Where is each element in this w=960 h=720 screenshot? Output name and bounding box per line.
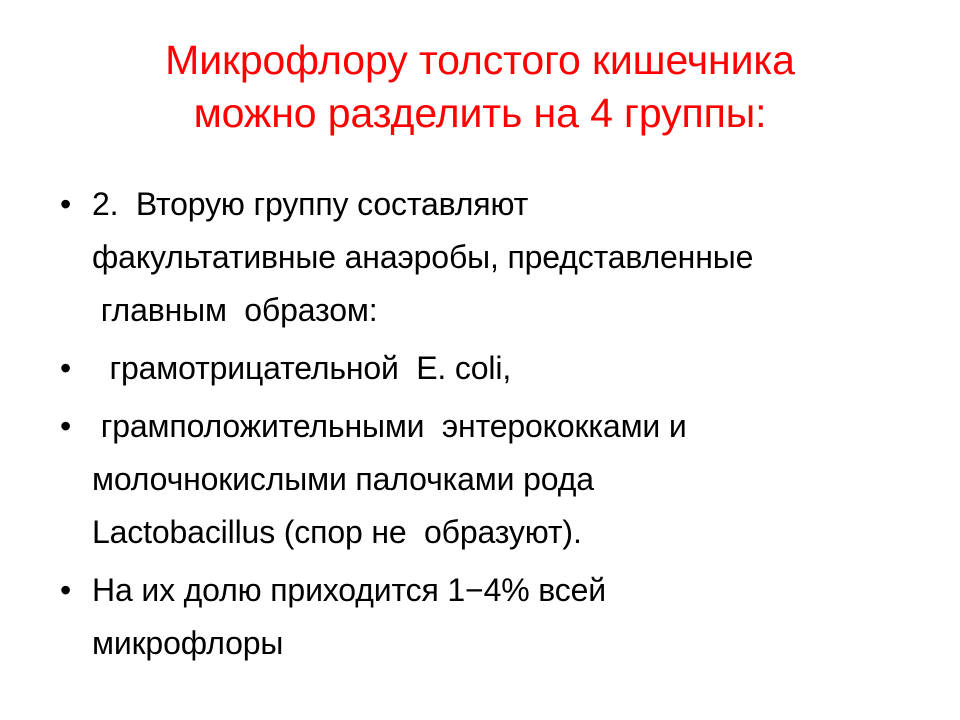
paragraph-1-text: 2. Вторую группу составляют факультативн… xyxy=(92,178,946,337)
bullet-paragraph-2: • грамотрицательной E. coli, xyxy=(46,342,946,395)
bullet-point-icon: • xyxy=(60,400,78,453)
text-line: На их долю приходится 1−4% всей xyxy=(92,564,946,617)
bullet-paragraph-3: • грамположительными энтерококками и мол… xyxy=(46,400,946,559)
slide-title: Микрофлору толстого кишечника можно разд… xyxy=(30,34,930,140)
bullet-point-icon: • xyxy=(60,178,78,231)
bullet-paragraph-1: • 2. Вторую группу составляют факультати… xyxy=(46,178,946,337)
text-line: 2. Вторую группу составляют xyxy=(92,178,946,231)
text-line: Lactobacillus (спор не образуют). xyxy=(92,506,946,559)
presentation-slide: Микрофлору толстого кишечника можно разд… xyxy=(0,0,960,720)
text-line: микрофлоры xyxy=(92,617,946,670)
paragraph-3-text: грамположительными энтерококками и молоч… xyxy=(92,400,946,559)
text-line: грамотрицательной E. coli, xyxy=(92,342,946,395)
bullet-paragraph-4: • На их долю приходится 1−4% всей микроф… xyxy=(46,564,946,670)
title-line-2: можно разделить на 4 группы: xyxy=(30,87,930,140)
text-line: факультативные анаэробы, представленные xyxy=(92,231,946,284)
bullet-point-icon: • xyxy=(60,564,78,617)
text-line: молочнокислыми палочками рода xyxy=(92,453,946,506)
text-line: грамположительными энтерококками и xyxy=(92,400,946,453)
text-line: главным образом: xyxy=(92,284,946,337)
paragraph-2-text: грамотрицательной E. coli, xyxy=(92,342,946,395)
slide-body-content: • 2. Вторую группу составляют факультати… xyxy=(46,178,946,670)
paragraph-4-text: На их долю приходится 1−4% всей микрофло… xyxy=(92,564,946,670)
bullet-point-icon: • xyxy=(60,342,78,395)
title-line-1: Микрофлору толстого кишечника xyxy=(30,34,930,87)
